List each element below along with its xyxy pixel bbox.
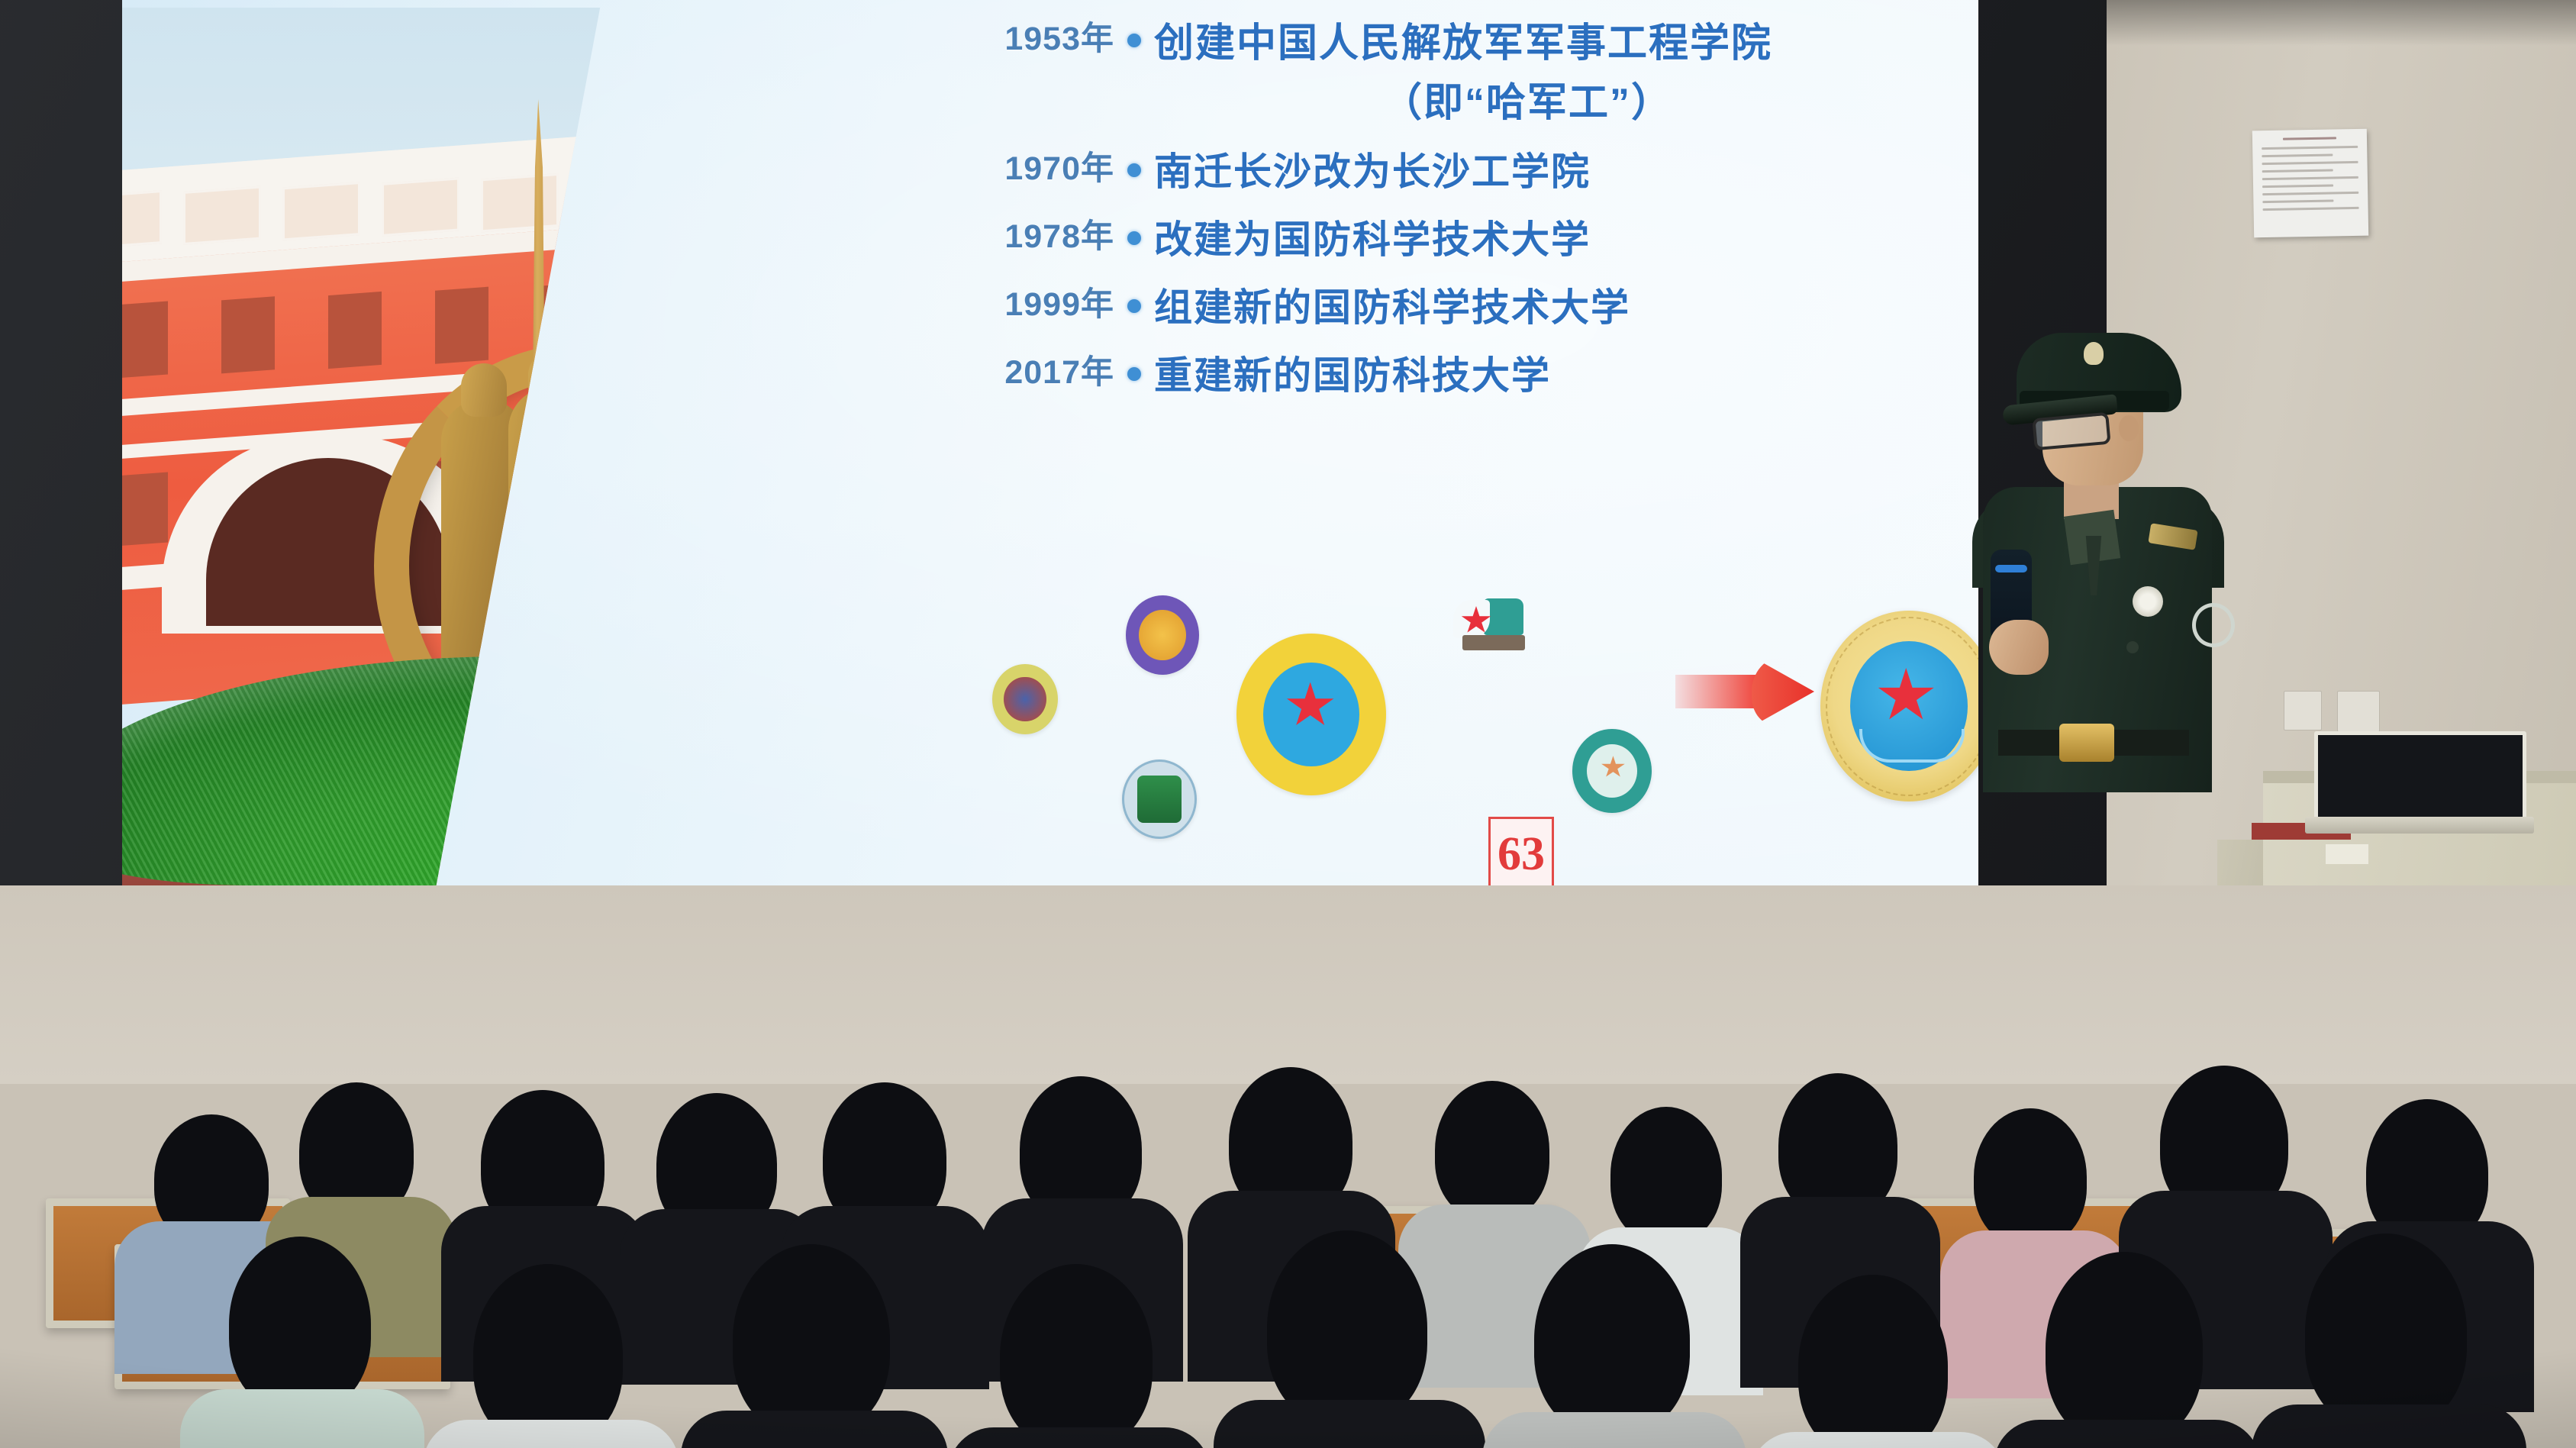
timeline-text-sub: （即“哈军工”） — [1108, 73, 1946, 133]
institution-emblem-icon — [1572, 729, 1652, 813]
audience-head — [1534, 1244, 1690, 1435]
arrow-right-icon — [1675, 656, 1813, 725]
institution-logomark-icon — [1443, 595, 1534, 661]
audience-torso — [1482, 1412, 1746, 1448]
timeline-row: 2017年 重建新的国防科技大学 — [954, 347, 1946, 405]
projection-screen: 1953年 创建中国人民解放军军事工程学院 （即“哈军工”） 1970年 南迁长… — [122, 0, 1978, 925]
institution-emblem-icon — [1126, 595, 1199, 675]
wall-socket[interactable] — [2284, 691, 2322, 730]
timeline-text: 组建新的国防科学技术大学 — [1154, 279, 1946, 337]
presenter-laptop[interactable] — [2314, 731, 2519, 827]
wall-socket[interactable] — [2337, 691, 2380, 732]
audience-head — [733, 1244, 890, 1435]
timeline-text: 创建中国人民解放军军事工程学院 （即“哈军工”） — [1154, 14, 1946, 133]
presenter-officer — [1969, 321, 2221, 794]
audience-torso — [2252, 1404, 2526, 1448]
audience-torso — [1994, 1420, 2261, 1448]
timeline-bullet-icon — [1114, 211, 1154, 245]
audience — [0, 885, 2576, 1448]
audience-torso — [180, 1389, 424, 1448]
nudt-emblem-icon — [1820, 611, 1978, 801]
institution-emblem-icon — [992, 664, 1058, 734]
audience-head — [1435, 1081, 1549, 1220]
institution-emblem-icon — [1236, 634, 1386, 795]
eyeglasses-icon — [2032, 412, 2110, 451]
timeline-bullet-icon — [1114, 144, 1154, 177]
audience-torso — [948, 1427, 1211, 1448]
timeline-row: 1970年 南迁长沙改为长沙工学院 — [954, 144, 1946, 201]
audience-head — [1974, 1108, 2087, 1246]
timeline-year: 1953年 — [954, 14, 1114, 65]
audience-head — [229, 1237, 371, 1412]
timeline-text-main: 创建中国人民解放军军事工程学院 — [1154, 21, 1772, 66]
shoulder-patch-icon — [2192, 603, 2235, 647]
timeline-year: 1978年 — [954, 211, 1114, 263]
timeline-bullet-icon — [1114, 347, 1154, 381]
wall-notice-poster — [2252, 129, 2368, 238]
cap-badge-icon — [2084, 342, 2104, 365]
timeline-text: 南迁长沙改为长沙工学院 — [1154, 144, 1946, 201]
timeline-year: 1970年 — [954, 144, 1114, 195]
audience-torso — [423, 1420, 679, 1448]
audience-torso — [681, 1411, 948, 1448]
badge-63: 63 — [1488, 817, 1554, 892]
audience-head — [2305, 1234, 2467, 1430]
audience-head — [1000, 1264, 1153, 1448]
audience-head — [1610, 1107, 1722, 1243]
timeline-row: 1953年 创建中国人民解放军军事工程学院 （即“哈军工”） — [954, 14, 1946, 133]
timeline-bullet-icon — [1114, 279, 1154, 313]
timeline-bullet-icon — [1114, 14, 1154, 47]
timeline-text: 改建为国防科学技术大学 — [1154, 211, 1946, 269]
slide-timeline: 1953年 创建中国人民解放军军事工程学院 （即“哈军工”） 1970年 南迁长… — [954, 14, 1946, 415]
audience-torso — [1749, 1432, 2006, 1448]
screenshot-root: 1953年 创建中国人民解放军军事工程学院 （即“哈军工”） 1970年 南迁长… — [0, 0, 2576, 1448]
timeline-text: 重建新的国防科技大学 — [1154, 347, 1946, 405]
timeline-year: 2017年 — [954, 347, 1114, 398]
audience-torso — [1214, 1400, 1485, 1448]
audience-head — [1267, 1230, 1427, 1426]
slide-logo-cluster: 63 — [985, 588, 1977, 840]
timeline-year: 1999年 — [954, 279, 1114, 331]
belt-buckle-icon — [2059, 724, 2114, 762]
medal-icon — [2133, 586, 2163, 617]
timeline-row: 1999年 组建新的国防科学技术大学 — [954, 279, 1946, 337]
institution-emblem-icon — [1122, 759, 1197, 839]
audience-head — [1798, 1275, 1948, 1448]
timeline-row: 1978年 改建为国防科学技术大学 — [954, 211, 1946, 269]
audience-head — [2046, 1252, 2203, 1444]
